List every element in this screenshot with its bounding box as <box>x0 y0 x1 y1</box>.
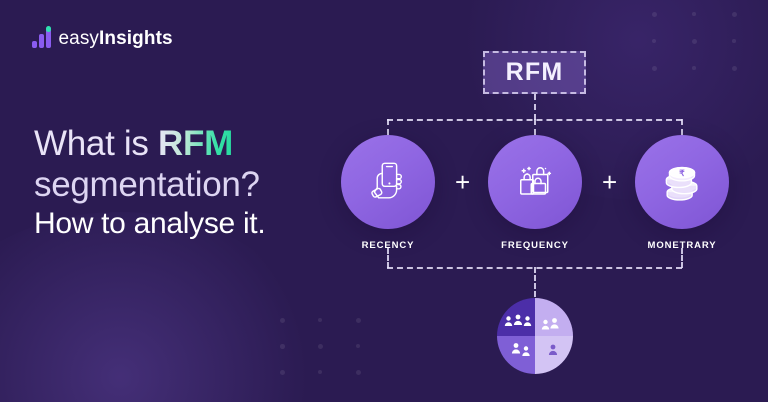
decorative-dot <box>318 344 323 349</box>
decorative-dot <box>356 344 360 348</box>
svg-text:₹: ₹ <box>679 168 685 178</box>
decorative-dot <box>280 344 285 349</box>
connector-merge-left-down <box>387 248 389 268</box>
decorative-dot <box>356 370 361 375</box>
rfm-root-label: RFM <box>506 58 564 87</box>
customer-segments-pie[interactable] <box>497 298 573 374</box>
decorative-dot <box>356 318 361 323</box>
pie-people-bottom-left <box>511 342 533 357</box>
logo-bar-accent-tip <box>46 26 51 32</box>
connector-branch-right-down <box>681 119 683 135</box>
operator-plus-2: + <box>602 169 617 195</box>
decorative-dot <box>280 318 285 323</box>
headline-prefix: What is <box>34 124 158 163</box>
monetary-label: MONETRARY <box>635 240 729 251</box>
banner-canvas: easyInsights What is RFM segmentation? H… <box>0 0 768 402</box>
headline-line-1: What is RFM <box>34 124 374 165</box>
recency-label: RECENCY <box>341 240 435 251</box>
decorative-dot <box>280 370 285 375</box>
logo-bar-tall <box>46 27 51 48</box>
operator-plus-1: + <box>455 169 470 195</box>
decorative-dot <box>692 39 697 44</box>
page-title: What is RFM segmentation? How to analyse… <box>34 124 374 242</box>
customer-segments-pie-icon <box>497 298 573 374</box>
rfm-node-recency[interactable]: RECENCY <box>341 135 435 251</box>
pie-people-top-right <box>541 317 561 331</box>
decorative-dot <box>692 12 696 16</box>
connector-to-pie-down <box>534 267 536 297</box>
decorative-dot <box>692 66 696 70</box>
connector-root-down <box>534 94 536 120</box>
brand-wordmark: easyInsights <box>59 29 173 48</box>
rfm-node-frequency[interactable]: FREQUENCY <box>488 135 582 251</box>
decorative-dot <box>318 318 322 322</box>
headline-line-3: How to analyse it. <box>34 207 374 242</box>
connector-branch-center-down <box>534 119 536 135</box>
pie-people-top-left <box>504 314 532 328</box>
rfm-root-badge: RFM <box>483 51 586 94</box>
headline-line-2: segmentation? <box>34 165 374 206</box>
decorative-dot <box>652 66 657 71</box>
brand-name-bold: Insights <box>99 28 173 49</box>
logo-bar-medium <box>39 34 44 48</box>
logo-bar-small <box>32 41 37 48</box>
coin-stack-rupee-icon: ₹ <box>657 157 707 207</box>
brand-name-light: easy <box>59 28 100 49</box>
rfm-node-monetary[interactable]: ₹ MONETRARY <box>635 135 729 251</box>
shopping-bags-icon <box>511 158 559 206</box>
connector-branch-left-down <box>387 119 389 135</box>
frequency-circle <box>488 135 582 229</box>
brand-logo[interactable]: easyInsights <box>32 26 173 48</box>
monetary-circle: ₹ <box>635 135 729 229</box>
decorative-dot <box>732 12 737 17</box>
decorative-dot <box>732 39 736 43</box>
pie-people-bottom-right <box>547 343 559 358</box>
bar-chart-logo-icon <box>32 26 51 48</box>
connector-merge-right-down <box>681 248 683 268</box>
frequency-label: FREQUENCY <box>488 240 582 251</box>
decorative-dot <box>318 370 322 374</box>
decorative-dot <box>652 12 657 17</box>
hand-holding-phone-icon <box>365 159 411 205</box>
decorative-dot <box>732 66 737 71</box>
recency-circle <box>341 135 435 229</box>
headline-highlight-rfm: RFM <box>158 124 233 163</box>
decorative-dot <box>652 39 656 43</box>
